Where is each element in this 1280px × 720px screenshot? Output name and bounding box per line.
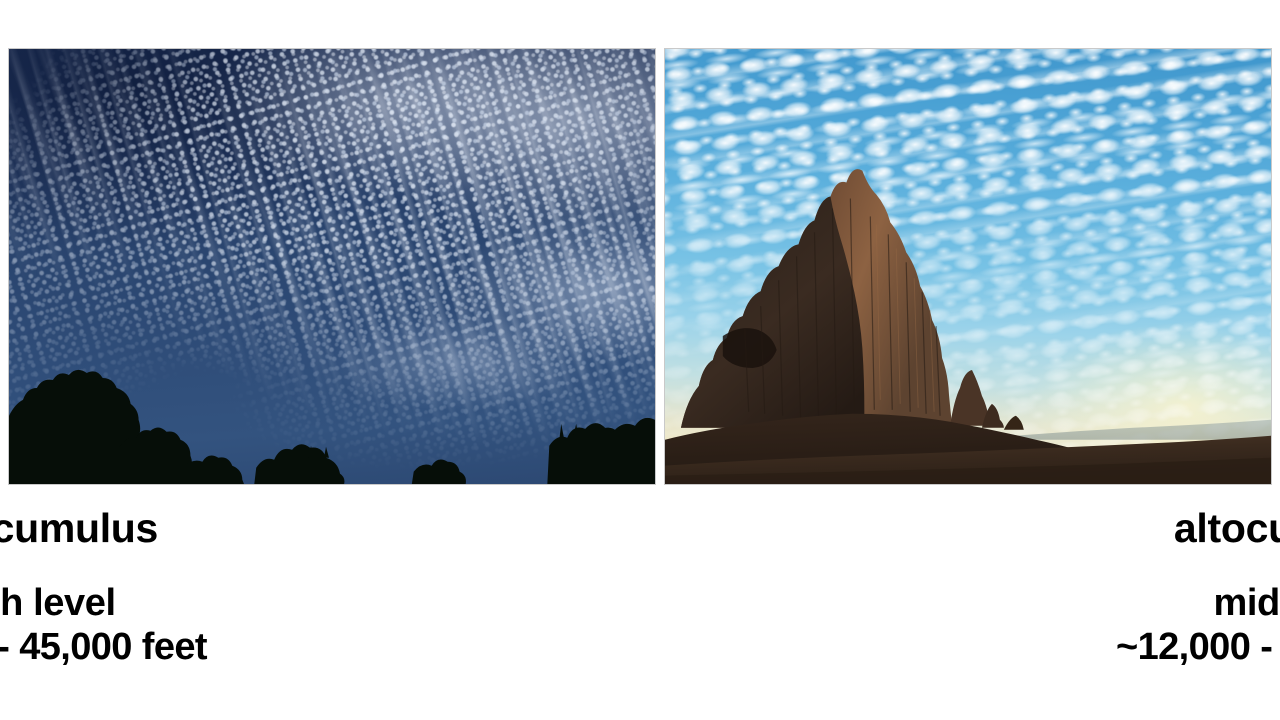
cirrocumulus-photo bbox=[8, 48, 656, 485]
cirrocumulus-grain-layer bbox=[8, 48, 656, 485]
panel-cirrocumulus: cirrocumulus high level ~16,000 - 45,000… bbox=[0, 0, 664, 720]
caption-title-altocumulus: altocumulus bbox=[985, 508, 1280, 549]
caption-level-altocumulus: mid level bbox=[985, 584, 1280, 622]
shiprock-formation-layer bbox=[665, 49, 1271, 485]
caption-level-cirrocumulus: high level bbox=[0, 584, 362, 622]
panel-altocumulus: altocumulus mid level ~12,000 - 18,000 f… bbox=[664, 0, 1280, 720]
caption-altitude-cirrocumulus: ~16,000 - 45,000 feet bbox=[0, 628, 362, 666]
cloud-comparison-slide: cirrocumulus high level ~16,000 - 45,000… bbox=[0, 0, 1280, 720]
altocumulus-photo bbox=[664, 48, 1272, 485]
caption-title-cirrocumulus: cirrocumulus bbox=[0, 508, 362, 549]
caption-altitude-altocumulus: ~12,000 - 18,000 feet bbox=[985, 628, 1280, 666]
